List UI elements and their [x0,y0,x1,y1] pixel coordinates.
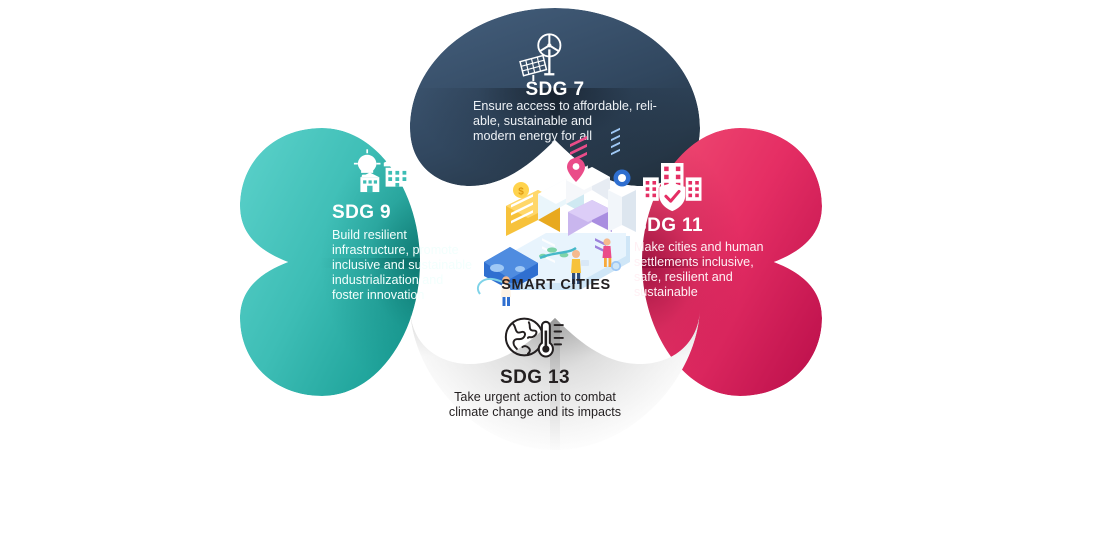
petal-sdg11-line-2: settlements inclusive, [634,255,754,269]
petal-sdg13-heading: SDG 13 [500,367,570,388]
petal-sdg9-line-1: Build resilient [332,228,407,242]
petal-sdg11-line-4: sustainable [634,285,698,299]
petal-sdg7[interactable]: SDG 7 Ensure access to affordable, reli-… [410,8,700,188]
petal-sdg9-heading: SDG 9 [332,202,391,223]
petal-sdg9-line-5: foster innovation [332,288,424,302]
petal-sdg7-line-3: modern energy for all [473,129,592,143]
center-label-smart-cities: SMART CITIES [501,277,611,293]
petal-sdg11-line-3: safe, resilient and [634,270,733,284]
petal-sdg11-heading: SDG 11 [634,215,703,236]
svg-text:$: $ [518,187,524,198]
petal-sdg11-line-1: Make cities and human [634,240,764,254]
petal-sdg7-heading: SDG 7 [525,79,584,100]
sdg-smart-cities-flower-diagram: SDG 7 Ensure access to affordable, reli-… [0,0,1110,556]
petal-sdg7-line-2: able, sustainable and [473,114,592,128]
petal-sdg9-line-2: infrastructure, promote [332,243,459,257]
petal-sdg11[interactable]: SDG 11 Make cities and human settlements… [634,128,822,398]
petal-sdg13-line-1: Take urgent action to combat [454,390,616,404]
petal-sdg7-line-1: Ensure access to affordable, reli- [473,99,657,113]
petal-sdg9-line-3: inclusive and sustainable [332,258,472,272]
petal-sdg13-line-2: climate change and its impacts [449,405,621,419]
petal-sdg9-line-4: industrialization and [332,273,443,287]
